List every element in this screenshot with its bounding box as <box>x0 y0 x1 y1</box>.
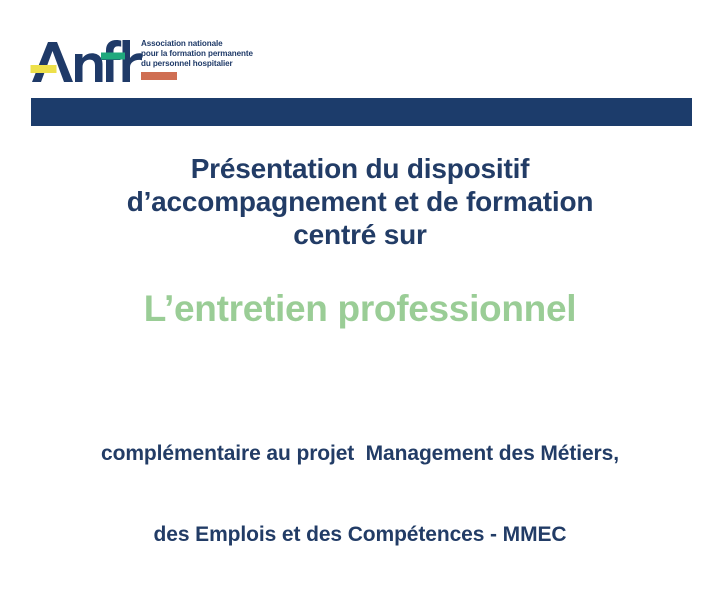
letter-h-shape <box>123 40 143 82</box>
logo-tagline-line-3: du personnel hospitalier <box>141 59 301 69</box>
presentation-slide: Association nationale pour la formation … <box>0 0 720 540</box>
slide-subtitle: complémentaire au projet Management des … <box>25 386 695 602</box>
anfh-logo: Association nationale pour la formation … <box>30 34 300 92</box>
header-band <box>31 98 692 126</box>
logo-tagline: Association nationale pour la formation … <box>141 39 301 70</box>
anfh-wordmark-svg <box>30 34 142 90</box>
logo-tagline-line-2: pour la formation permanente <box>141 49 301 59</box>
anfh-wordmark-icon <box>30 34 142 90</box>
slide-subtitle-line-2: des Emplois et des Compétences - MMEC <box>25 521 695 548</box>
slide-title: Présentation du dispositif d’accompagnem… <box>60 152 660 251</box>
yellow-accent-bar <box>31 65 57 73</box>
logo-tagline-line-1: Association nationale <box>141 39 301 49</box>
slide-title-line-3: centré sur <box>60 218 660 251</box>
teal-accent-bar <box>101 53 125 60</box>
letter-f-shape <box>102 40 122 82</box>
slide-title-line-2: d’accompagnement et de formation <box>60 185 660 218</box>
slide-highlight-heading: L’entretien professionnel <box>45 288 675 330</box>
slide-title-line-1: Présentation du dispositif <box>60 152 660 185</box>
logo-orange-accent-bar <box>141 72 177 80</box>
letter-a-shape <box>32 42 73 82</box>
letter-n-shape <box>75 53 103 82</box>
slide-subtitle-line-1: complémentaire au projet Management des … <box>25 440 695 467</box>
